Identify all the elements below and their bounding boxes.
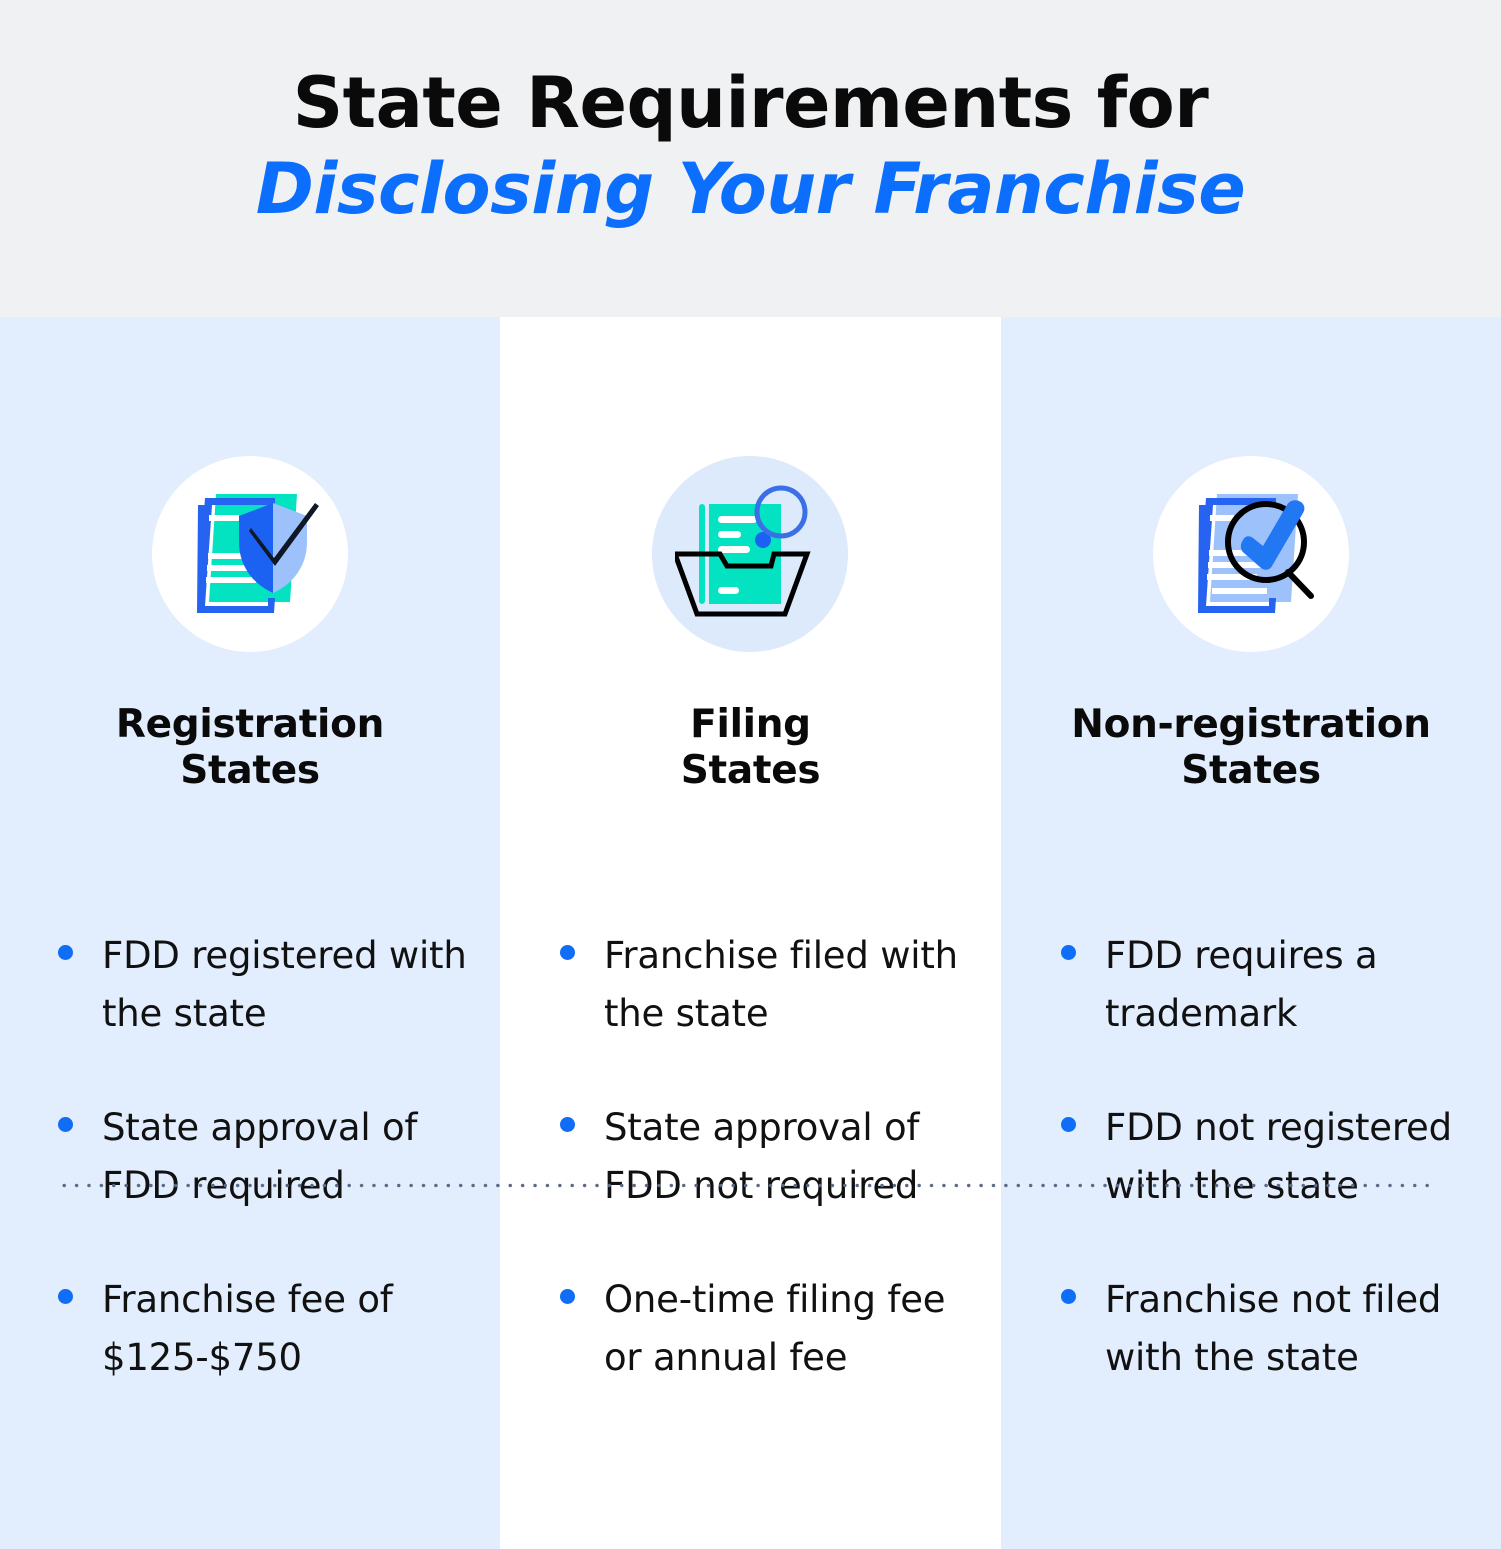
list-item: Franchise not filed with the state: [1061, 1271, 1477, 1387]
bullet-text: Franchise fee of $125-$750: [102, 1271, 480, 1387]
bullet-list-non-registration: FDD requires a trademark FDD not registe…: [1001, 927, 1501, 1387]
column-heading-line2: States: [0, 748, 500, 794]
bullet-text: FDD not registered with the state: [1105, 1099, 1477, 1215]
bullet-text: Franchise filed with the state: [604, 927, 977, 1043]
list-item: State approval of FDD not required: [560, 1099, 977, 1215]
page-title-line2: Disclosing Your Franchise: [256, 146, 1245, 232]
bullet-dot-icon: [1061, 1117, 1076, 1132]
bullet-dot-icon: [560, 1289, 575, 1304]
bullet-dot-icon: [1061, 945, 1076, 960]
bullet-dot-icon: [58, 1289, 73, 1304]
bullet-text: Franchise not filed with the state: [1105, 1271, 1477, 1387]
bullet-text: One-time filing fee or annual fee: [604, 1271, 977, 1387]
bullet-text: State approval of FDD required: [102, 1099, 480, 1215]
bullet-dot-icon: [560, 945, 575, 960]
list-item: Franchise filed with the state: [560, 927, 977, 1043]
dotted-divider: [58, 1183, 1434, 1188]
document-shield-check-icon: [152, 456, 348, 652]
list-item: FDD registered with the state: [58, 927, 480, 1043]
columns-band: Registration States FDD registered with …: [0, 317, 1501, 1549]
column-heading-non-registration: Non-registration States: [1001, 702, 1501, 794]
bullet-dot-icon: [58, 1117, 73, 1132]
document-magnifier-check-icon: [1153, 456, 1349, 652]
bullet-text: FDD requires a trademark: [1105, 927, 1477, 1043]
column-heading-registration: Registration States: [0, 702, 500, 794]
column-heading-line1: Filing: [500, 702, 1001, 748]
column-heading-line2: States: [1001, 748, 1501, 794]
bullet-list-filing: Franchise filed with the state State app…: [500, 927, 1001, 1387]
bullet-dot-icon: [1061, 1289, 1076, 1304]
list-item: FDD not registered with the state: [1061, 1099, 1477, 1215]
page-title-line1: State Requirements for: [293, 60, 1209, 146]
list-item: One-time filing fee or annual fee: [560, 1271, 977, 1387]
header-banner: State Requirements for Disclosing Your F…: [0, 0, 1501, 317]
list-item: State approval of FDD required: [58, 1099, 480, 1215]
list-item: Franchise fee of $125-$750: [58, 1271, 480, 1387]
list-item: FDD requires a trademark: [1061, 927, 1477, 1043]
bullet-text: FDD registered with the state: [102, 927, 480, 1043]
column-heading-filing: Filing States: [500, 702, 1001, 794]
bullet-list-registration: FDD registered with the state State appr…: [0, 927, 500, 1387]
bullet-dot-icon: [560, 1117, 575, 1132]
column-filing-states: Filing States Franchise filed with the s…: [500, 317, 1001, 1549]
column-heading-line1: Non-registration: [1001, 702, 1501, 748]
column-heading-line2: States: [500, 748, 1001, 794]
bullet-text: State approval of FDD not required: [604, 1099, 977, 1215]
column-non-registration-states: Non-registration States FDD requires a t…: [1001, 317, 1501, 1549]
document-filing-tray-icon: [652, 456, 848, 652]
column-heading-line1: Registration: [0, 702, 500, 748]
bullet-dot-icon: [58, 945, 73, 960]
column-registration-states: Registration States FDD registered with …: [0, 317, 500, 1549]
